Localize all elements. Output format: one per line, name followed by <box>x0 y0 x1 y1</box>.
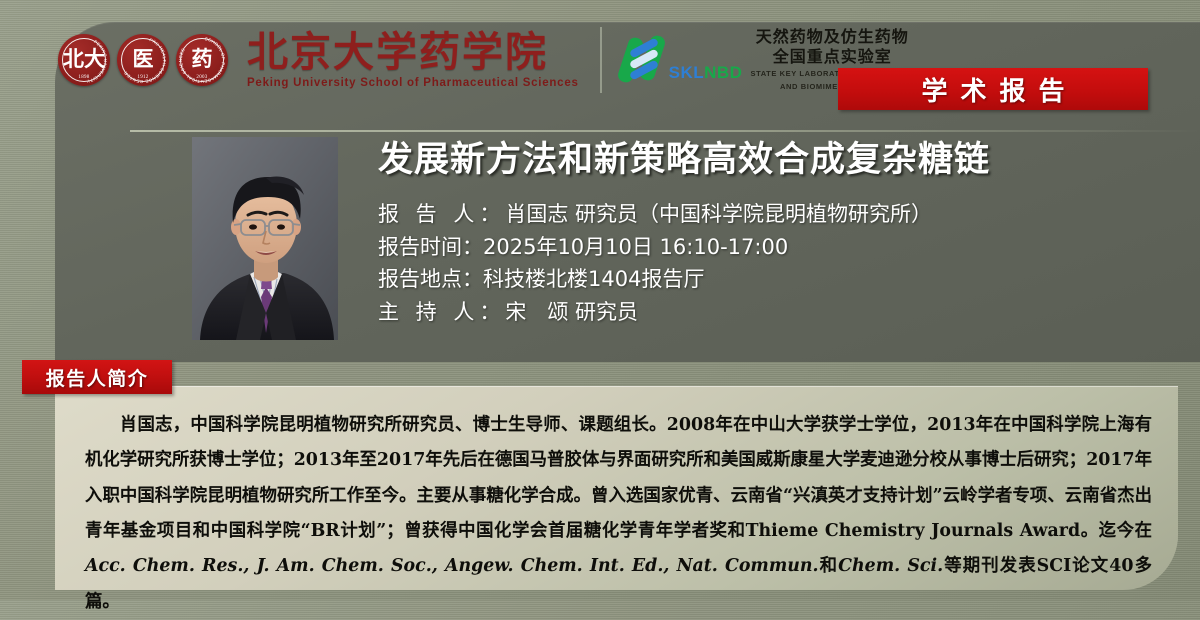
talk-venue-value: 科技楼北楼1404报告厅 <box>483 267 704 291</box>
talk-info: 发展新方法和新策略高效合成复杂糖链 报 告 人：肖国志 研究员（中国科学院昆明植… <box>378 140 1180 328</box>
speaker-bio-tab: 报告人简介 <box>22 360 172 394</box>
seminar-poster: PEKING UNIVERSITY 北大 1898 PKU HEALTH SCI… <box>0 0 1200 600</box>
seal-year: 1898 <box>58 75 110 80</box>
pku-health-science-center-seal: PKU HEALTH SCIENCE CENTER 医 1912 <box>117 34 169 86</box>
lab-name-cn-line2: 全国重点实验室 <box>750 47 914 67</box>
bio-paragraph-mid: 和 <box>819 556 839 576</box>
talk-venue-label: 报告地点： <box>378 267 483 291</box>
talk-host-value: 宋 颂 研究员 <box>505 300 638 324</box>
talk-host-label: 主 持 人： <box>378 300 505 324</box>
institution-logo-row: PEKING UNIVERSITY 北大 1898 PKU HEALTH SCI… <box>58 27 914 93</box>
portrait-illustration <box>192 137 338 340</box>
talk-time-row: 报告时间：2025年10月10日 16:10-17:00 <box>378 231 1180 264</box>
lab-acronym-nbd: NBD <box>704 63 742 82</box>
seal-year: 2003 <box>176 75 228 80</box>
pku-pharmaceutical-school-seal: SCHOOL OF PHARMACEUTICAL SCIENCES 药 2003 <box>176 34 228 86</box>
logo-vertical-divider <box>600 27 602 93</box>
talk-speaker-row: 报 告 人：肖国志 研究员（中国科学院昆明植物研究所） <box>378 198 1180 231</box>
peking-university-seal: PEKING UNIVERSITY 北大 1898 <box>58 34 110 86</box>
talk-meta-list: 报 告 人：肖国志 研究员（中国科学院昆明植物研究所） 报告时间：2025年10… <box>378 198 1180 328</box>
bio-journal-list-1: Acc. Chem. Res., J. Am. Chem. Soc., Ange… <box>85 556 819 576</box>
lab-acronym: SKLNBD <box>669 37 743 83</box>
talk-speaker-value: 肖国志 研究员（中国科学院昆明植物研究所） <box>505 202 932 226</box>
talk-time-value: 2025年10月10日 16:10-17:00 <box>483 235 788 259</box>
wordmark-english: Peking University School of Pharmaceutic… <box>247 77 579 89</box>
seal-year: 1912 <box>117 75 169 80</box>
wordmark-chinese: 北京大学药学院 <box>247 31 579 74</box>
speaker-bio-tab-label: 报告人简介 <box>46 364 149 391</box>
bio-journal-list-2: Chem. Sci. <box>838 556 943 576</box>
lab-name-cn-line1: 天然药物及仿生药物 <box>750 27 914 47</box>
dna-helix-icon <box>621 34 673 86</box>
speaker-bio-text: 肖国志，中国科学院昆明植物研究所研究员、博士生导师、课题组长。2008年在中山大… <box>85 408 1152 620</box>
speaker-bio-panel: 肖国志，中国科学院昆明植物研究所研究员、博士生导师、课题组长。2008年在中山大… <box>55 386 1178 590</box>
talk-host-row: 主 持 人：宋 颂 研究员 <box>378 296 1180 329</box>
talk-speaker-label: 报 告 人： <box>378 202 505 226</box>
bio-paragraph-pre: 肖国志，中国科学院昆明植物研究所研究员、博士生导师、课题组长。2008年在中山大… <box>85 415 1152 541</box>
header-divider-rule <box>130 130 1200 132</box>
talk-title: 发展新方法和新策略高效合成复杂糖链 <box>378 140 1180 180</box>
lab-acronym-skl: SKL <box>669 63 705 82</box>
talk-time-label: 报告时间： <box>378 235 483 259</box>
academic-report-badge: 学术报告 <box>838 68 1148 110</box>
university-wordmark: 北京大学药学院 Peking University School of Phar… <box>247 31 579 89</box>
academic-report-badge-label: 学术报告 <box>908 71 1077 108</box>
talk-venue-row: 报告地点：科技楼北楼1404报告厅 <box>378 263 1180 296</box>
speaker-portrait <box>192 137 338 340</box>
